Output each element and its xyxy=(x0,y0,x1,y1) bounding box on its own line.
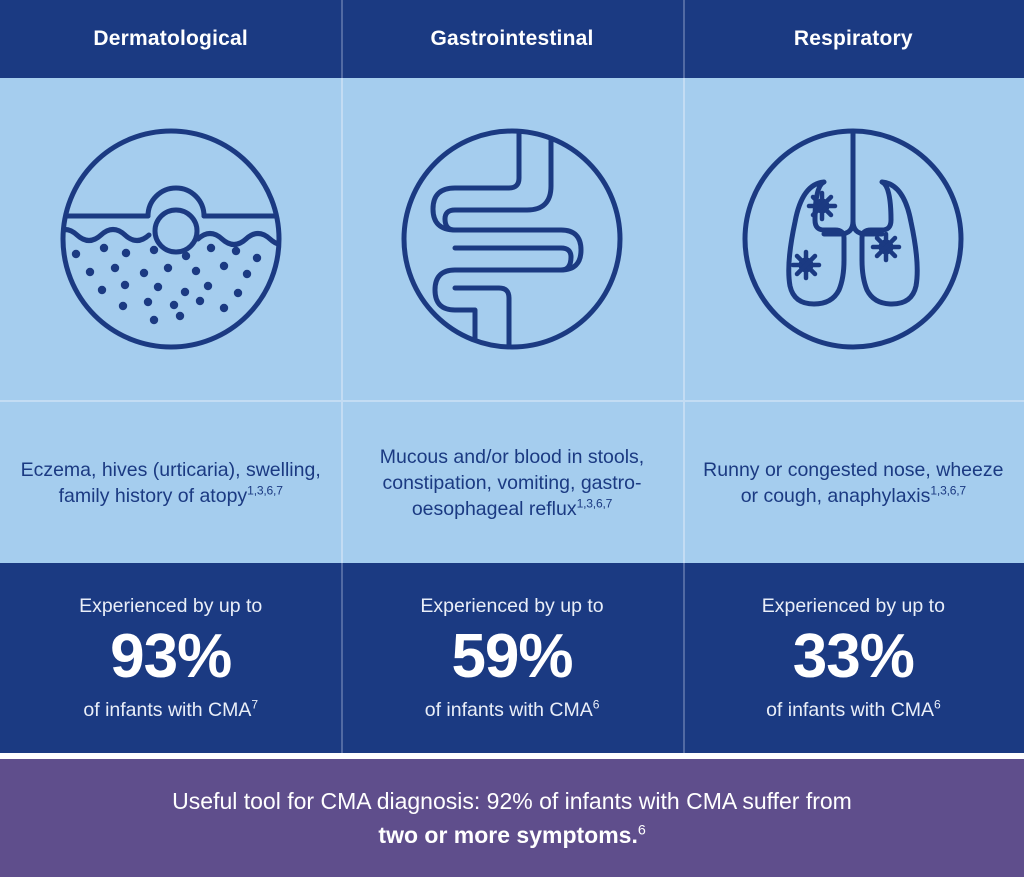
stat-foot-gastrointestinal: of infants with CMA6 xyxy=(425,698,600,722)
page-title-respiratory: Respiratory xyxy=(794,27,913,51)
stat-cell-respiratory: Experienced by up to 33% of infants with… xyxy=(683,563,1024,753)
stat-value-dermatological: 93% xyxy=(110,620,231,694)
stat-cell-gastrointestinal: Experienced by up to 59% of infants with… xyxy=(341,563,682,753)
symptoms-paragraph-gastrointestinal: Mucous and/or blood in stools, constipat… xyxy=(359,444,664,522)
rash-dots xyxy=(71,244,260,324)
symptoms-cell-respiratory: Runny or congested nose, wheeze or cough… xyxy=(683,402,1024,563)
stat-foot-text-dermatological: of infants with CMA xyxy=(83,699,251,721)
stat-lead-gastrointestinal: Experienced by up to xyxy=(420,594,603,618)
stat-reference-gastrointestinal: 6 xyxy=(593,698,600,712)
footer-reference: 6 xyxy=(638,822,646,838)
symptoms-text-band: Eczema, hives (urticaria), swelling, fam… xyxy=(0,402,1024,563)
icon-cell-gastrointestinal xyxy=(341,78,682,400)
stat-lead-dermatological: Experienced by up to xyxy=(79,594,262,618)
symptoms-paragraph-respiratory: Runny or congested nose, wheeze or cough… xyxy=(701,457,1006,509)
symptoms-reference-dermatological: 1,3,6,7 xyxy=(247,483,283,497)
stat-lead-respiratory: Experienced by up to xyxy=(762,594,945,618)
footer-callout-text: Useful tool for CMA diagnosis: 92% of in… xyxy=(172,784,852,852)
icon-cell-dermatological xyxy=(0,78,341,400)
footer-line-2-strong: two or more symptoms. xyxy=(378,822,637,848)
cma-symptoms-infographic: Dermatological Gastrointestinal Respirat… xyxy=(0,0,1024,877)
stat-cell-dermatological: Experienced by up to 93% of infants with… xyxy=(0,563,341,753)
symptoms-reference-gastrointestinal: 1,3,6,7 xyxy=(577,496,613,510)
statistics-band: Experienced by up to 93% of infants with… xyxy=(0,563,1024,753)
stat-value-gastrointestinal: 59% xyxy=(451,620,572,694)
skin-rash-icon xyxy=(58,126,284,352)
intestine-icon xyxy=(399,126,625,352)
icon-band xyxy=(0,78,1024,400)
icon-cell-respiratory xyxy=(683,78,1024,400)
stat-value-respiratory: 33% xyxy=(793,620,914,694)
header-cell-respiratory: Respiratory xyxy=(683,0,1024,78)
symptoms-paragraph-dermatological: Eczema, hives (urticaria), swelling, fam… xyxy=(18,457,323,509)
stat-foot-text-gastrointestinal: of infants with CMA xyxy=(425,699,593,721)
footer-line-1: Useful tool for CMA diagnosis: 92% of in… xyxy=(172,788,852,814)
stat-reference-respiratory: 6 xyxy=(934,698,941,712)
header-cell-gastrointestinal: Gastrointestinal xyxy=(341,0,682,78)
footer-callout-band: Useful tool for CMA diagnosis: 92% of in… xyxy=(0,759,1024,877)
stat-foot-respiratory: of infants with CMA6 xyxy=(766,698,941,722)
page-title-gastrointestinal: Gastrointestinal xyxy=(430,27,593,51)
page-title-dermatological: Dermatological xyxy=(93,27,248,51)
symptoms-reference-respiratory: 1,3,6,7 xyxy=(930,483,966,497)
lungs-icon xyxy=(740,126,966,352)
header-cell-dermatological: Dermatological xyxy=(0,0,341,78)
stat-foot-dermatological: of infants with CMA7 xyxy=(83,698,258,722)
symptoms-cell-gastrointestinal: Mucous and/or blood in stools, constipat… xyxy=(341,402,682,563)
category-header-band: Dermatological Gastrointestinal Respirat… xyxy=(0,0,1024,78)
stat-reference-dermatological: 7 xyxy=(251,698,258,712)
stat-foot-text-respiratory: of infants with CMA xyxy=(766,699,934,721)
symptoms-cell-dermatological: Eczema, hives (urticaria), swelling, fam… xyxy=(0,402,341,563)
